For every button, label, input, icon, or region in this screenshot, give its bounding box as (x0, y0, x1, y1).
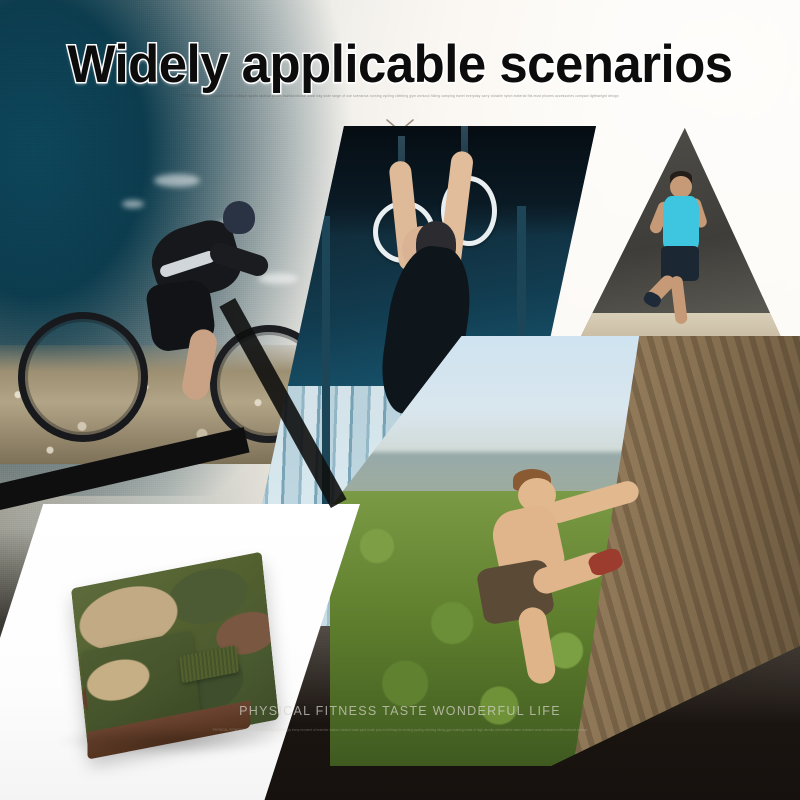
cloud-shape (154, 174, 200, 187)
footer-subcopy: PHYSICAL FITNESS TASTE WONDERFUL LIFE en… (165, 728, 635, 734)
banner-stage: Widely applicable scenarios FITNESS equi… (0, 0, 800, 800)
header-subcopy: FITNESS equipment accessories outdoor sp… (165, 94, 635, 100)
banner-footer: PHYSICAL FITNESS TASTE WONDERFUL LIFE PH… (0, 680, 800, 800)
cyclist-helmet (223, 201, 255, 234)
scenario-collage (0, 126, 800, 746)
runner-head (670, 176, 692, 199)
runner-tank-top (663, 196, 699, 251)
footer-caption: PHYSICAL FITNESS TASTE WONDERFUL LIFE (239, 704, 561, 718)
page-title: Widely applicable scenarios (16, 34, 784, 95)
